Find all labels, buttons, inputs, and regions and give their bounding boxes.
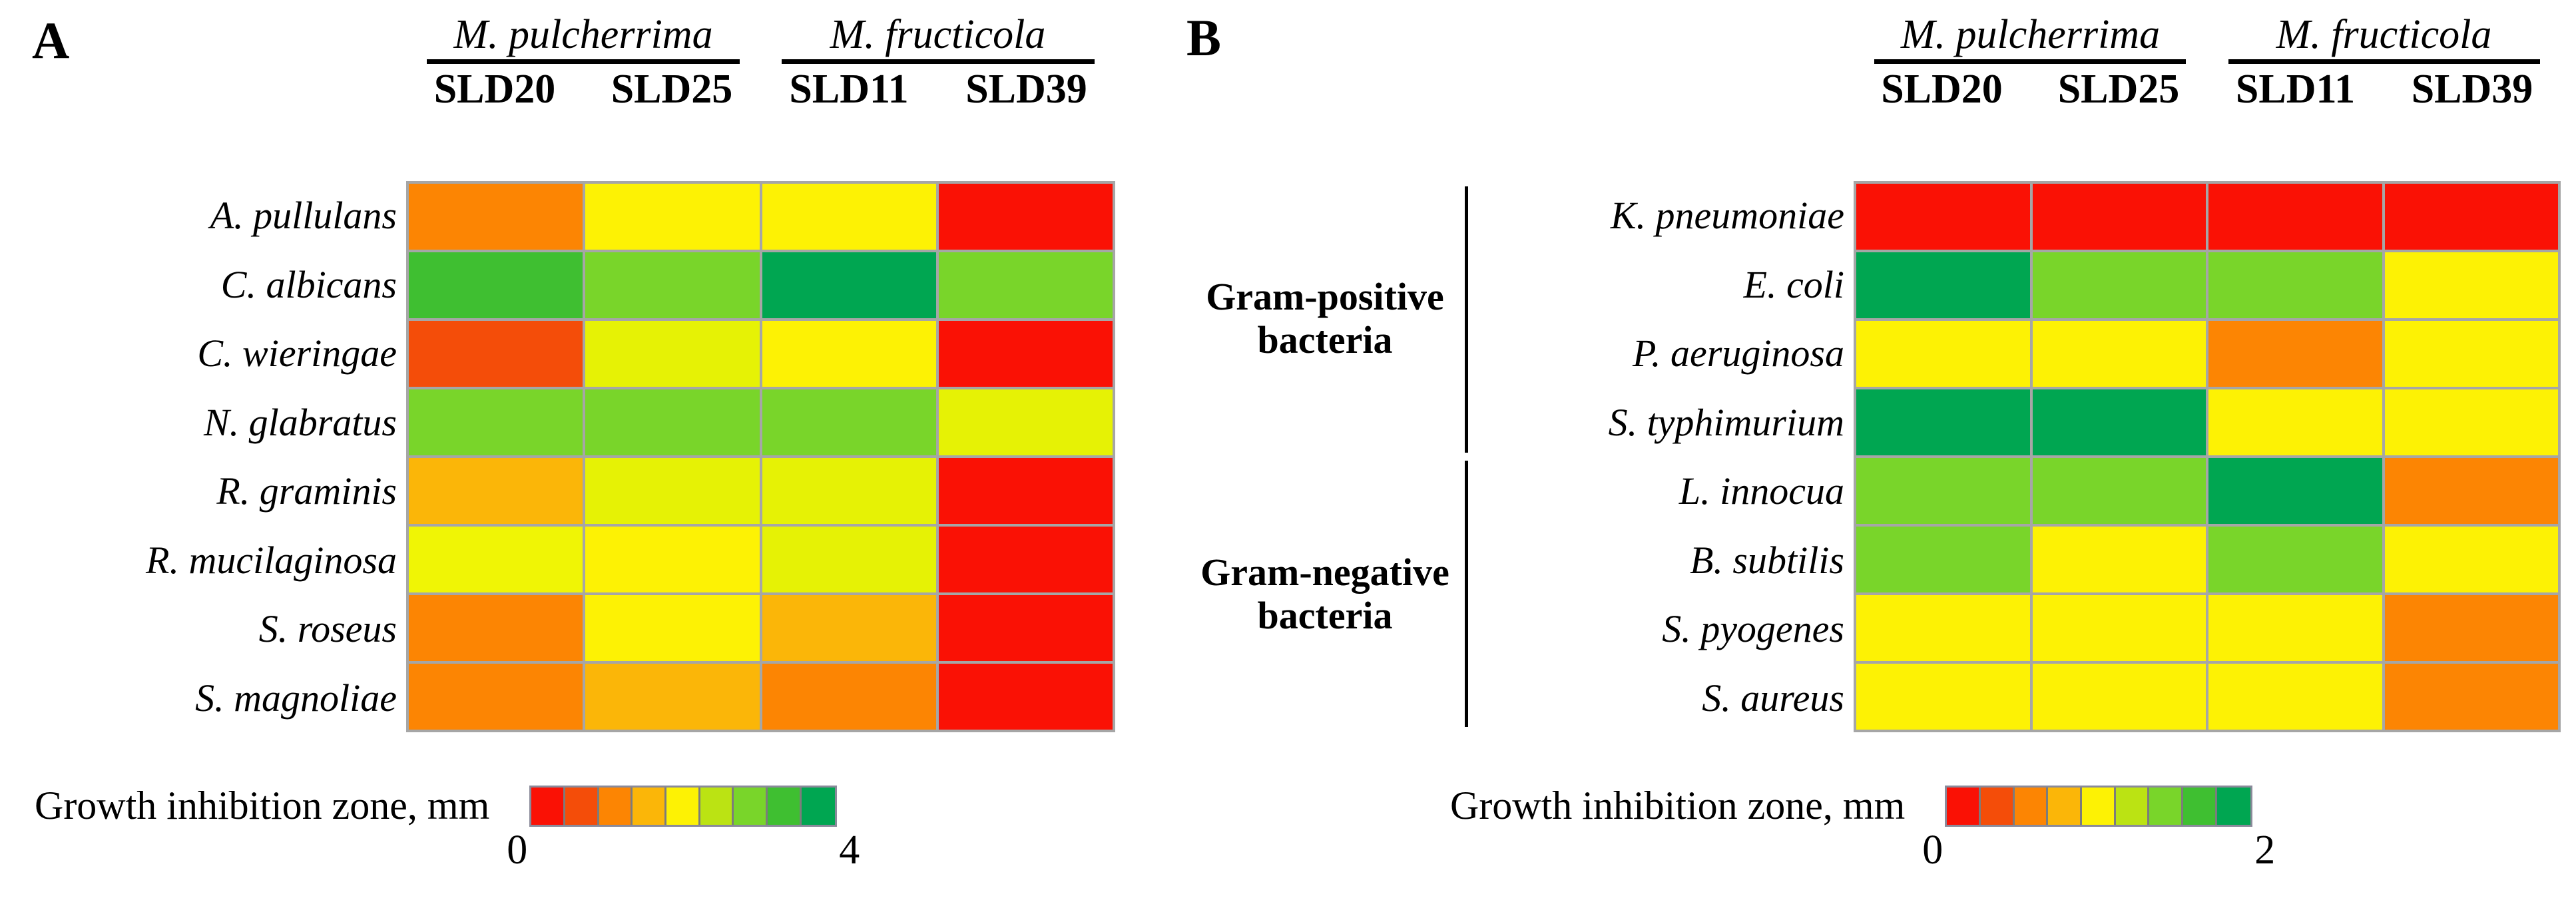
panel-a-legend-max: 4 [839, 829, 860, 871]
panel-b-strain-row: SLD20 SLD25 SLD11 SLD39 [1854, 68, 2561, 111]
panel-b-group-divider-top [1465, 186, 1468, 453]
heatmap-row-label: S. typhimurium [1471, 388, 1854, 457]
panel-b-legend-label: Growth inhibition zone, mm [1450, 786, 1905, 825]
heatmap-cell [585, 595, 759, 661]
heatmap-cell [2385, 527, 2559, 592]
panel-b-genus-underline-1 [2228, 59, 2540, 64]
colorbar-swatch [734, 788, 768, 825]
bacteria-group-label: Gram-positivebacteria [1192, 181, 1458, 457]
colorbar-swatch [1947, 788, 1981, 825]
heatmap-cell [2033, 527, 2206, 592]
heatmap-cell [585, 458, 759, 524]
panel-a-genus-group-1: M. fructicola [760, 13, 1115, 64]
heatmap-cell [762, 184, 936, 250]
heatmap-cell [585, 252, 759, 318]
panel-a: A M. pulcherrima M. fructicola SLD20 SLD… [0, 0, 1172, 914]
heatmap-cell [2208, 458, 2382, 524]
panel-a-genus-label: M. pulcherrima [406, 13, 760, 57]
heatmap-cell [1856, 527, 2030, 592]
heatmap-cell [409, 664, 583, 730]
heatmap-row-label: C. albicans [13, 250, 406, 320]
heatmap-cell [2033, 595, 2206, 661]
heatmap-cell [409, 389, 583, 455]
heatmap-row-label: A. pullulans [13, 181, 406, 250]
heatmap-cell [2208, 527, 2382, 592]
heatmap-cell [762, 252, 936, 318]
heatmap-cell [762, 458, 936, 524]
panel-b-colorbar [1945, 786, 2252, 827]
heatmap-cell [1856, 595, 2030, 661]
colorbar-swatch [2015, 788, 2049, 825]
panel-b-genus-label: M. pulcherrima [1854, 13, 2207, 57]
heatmap-row-label: S. roseus [13, 594, 406, 664]
heatmap-row-label: N. glabratus [13, 388, 406, 457]
panel-b-genus-group-0: M. pulcherrima [1854, 13, 2207, 64]
panel-a-strain-sld11: SLD11 [760, 68, 937, 111]
heatmap-cell [2033, 389, 2206, 455]
bacteria-group-label-line: Gram-negative [1200, 551, 1449, 594]
heatmap-cell [409, 252, 583, 318]
heatmap-cell [409, 184, 583, 250]
heatmap-cell [585, 664, 759, 730]
heatmap-cell [585, 184, 759, 250]
heatmap-cell [939, 389, 1113, 455]
panel-a-genus-label: M. fructicola [760, 13, 1115, 57]
heatmap-row-label: S. aureus [1471, 664, 1854, 733]
heatmap-cell [2385, 184, 2559, 250]
panel-b-letter: B [1186, 12, 1221, 64]
panel-b-legend-max: 2 [2254, 829, 2275, 871]
heatmap-row-label: C. wieringae [13, 319, 406, 388]
heatmap-row-label: R. mucilaginosa [13, 526, 406, 595]
heatmap-cell [939, 527, 1113, 592]
panel-b-column-headers: M. pulcherrima M. fructicola SLD20 SLD25… [1854, 13, 2561, 111]
panel-a-strain-sld39: SLD39 [937, 68, 1115, 111]
panel-b-strain-sld20: SLD20 [1854, 68, 2030, 111]
panel-b-legend: Growth inhibition zone, mm 0 2 [1450, 786, 2252, 827]
heatmap-cell [939, 184, 1113, 250]
heatmap-cell [2385, 664, 2559, 730]
panel-a-strain-row: SLD20 SLD25 SLD11 SLD39 [406, 68, 1115, 111]
heatmap-cell [2208, 389, 2382, 455]
heatmap-cell [2208, 664, 2382, 730]
heatmap-cell [762, 389, 936, 455]
panel-a-heatmap-grid [406, 181, 1115, 732]
heatmap-row-label: B. subtilis [1471, 526, 1854, 595]
heatmap-cell [2385, 595, 2559, 661]
panel-a-column-headers: M. pulcherrima M. fructicola SLD20 SLD25… [406, 13, 1115, 111]
heatmap-cell [409, 321, 583, 387]
panel-b-group-divider-bottom [1465, 461, 1468, 727]
heatmap-cell [1856, 252, 2030, 318]
colorbar-swatch [2149, 788, 2183, 825]
panel-b-group-labels: Gram-positivebacteriaGram-negativebacter… [1192, 181, 1458, 732]
panel-b-genus-group-1: M. fructicola [2207, 13, 2561, 64]
panel-b-strain-sld11: SLD11 [2207, 68, 2384, 111]
heatmap-cell [2033, 321, 2206, 387]
panel-b-heatmap-grid [1854, 181, 2561, 732]
panel-b-strain-sld25: SLD25 [2030, 68, 2207, 111]
panel-a-legend-min: 0 [507, 829, 527, 871]
colorbar-swatch [633, 788, 666, 825]
colorbar-swatch [2048, 788, 2082, 825]
panel-b-legend-min: 0 [1922, 829, 1943, 871]
heatmap-cell [939, 664, 1113, 730]
heatmap-cell [585, 527, 759, 592]
heatmap-cell [409, 595, 583, 661]
panel-a-colorbar-wrap: 0 4 [529, 786, 837, 827]
panel-b: B M. pulcherrima M. fructicola SLD20 SLD… [1172, 0, 2576, 914]
heatmap-cell [585, 321, 759, 387]
colorbar-swatch [768, 788, 802, 825]
heatmap-cell [939, 595, 1113, 661]
heatmap-cell [409, 458, 583, 524]
heatmap-cell [762, 595, 936, 661]
heatmap-cell [2208, 595, 2382, 661]
heatmap-row-label: R. graminis [13, 457, 406, 526]
bacteria-group-label-line: bacteria [1258, 319, 1393, 362]
heatmap-cell [1856, 458, 2030, 524]
panel-a-row-labels: A. pullulansC. albicansC. wieringaeN. gl… [13, 181, 406, 732]
heatmap-cell [1856, 184, 2030, 250]
figure-root: A M. pulcherrima M. fructicola SLD20 SLD… [0, 0, 2576, 914]
panel-a-letter: A [32, 15, 69, 67]
heatmap-cell [2033, 184, 2206, 250]
heatmap-cell [762, 527, 936, 592]
colorbar-swatch [700, 788, 734, 825]
panel-a-genus-underline-1 [782, 59, 1095, 64]
heatmap-cell [762, 321, 936, 387]
heatmap-cell [2033, 664, 2206, 730]
heatmap-cell [585, 389, 759, 455]
colorbar-swatch [2217, 788, 2251, 825]
heatmap-cell [1856, 664, 2030, 730]
heatmap-cell [939, 458, 1113, 524]
heatmap-cell [939, 252, 1113, 318]
colorbar-swatch [531, 788, 565, 825]
colorbar-swatch [2183, 788, 2217, 825]
heatmap-cell [939, 321, 1113, 387]
heatmap-cell [2208, 184, 2382, 250]
colorbar-swatch [1981, 788, 2015, 825]
panel-a-genus-row: M. pulcherrima M. fructicola [406, 13, 1115, 64]
heatmap-cell [2033, 252, 2206, 318]
bacteria-group-label-line: bacteria [1258, 594, 1393, 638]
heatmap-cell [2385, 389, 2559, 455]
colorbar-swatch [802, 788, 836, 825]
panel-a-strain-sld25: SLD25 [583, 68, 760, 111]
colorbar-swatch [599, 788, 633, 825]
colorbar-swatch [2082, 788, 2116, 825]
panel-b-genus-label: M. fructicola [2207, 13, 2561, 57]
heatmap-cell [2208, 252, 2382, 318]
panel-b-strain-sld39: SLD39 [2384, 68, 2561, 111]
heatmap-cell [1856, 321, 2030, 387]
heatmap-cell [409, 527, 583, 592]
bacteria-group-label: Gram-negativebacteria [1192, 457, 1458, 732]
panel-a-legend-label: Growth inhibition zone, mm [35, 786, 489, 825]
heatmap-row-label: S. pyogenes [1471, 594, 1854, 664]
colorbar-swatch [666, 788, 700, 825]
panel-b-genus-row: M. pulcherrima M. fructicola [1854, 13, 2561, 64]
panel-a-genus-underline-0 [427, 59, 740, 64]
heatmap-cell [2385, 458, 2559, 524]
panel-a-colorbar [529, 786, 837, 827]
panel-a-legend: Growth inhibition zone, mm 0 4 [35, 786, 837, 827]
heatmap-cell [2385, 252, 2559, 318]
bacteria-group-label-line: Gram-positive [1206, 276, 1444, 319]
panel-a-strain-sld20: SLD20 [406, 68, 583, 111]
heatmap-row-label: P. aeruginosa [1471, 319, 1854, 388]
colorbar-swatch [2116, 788, 2150, 825]
heatmap-cell [762, 664, 936, 730]
panel-a-genus-group-0: M. pulcherrima [406, 13, 760, 64]
heatmap-row-label: L. innocua [1471, 457, 1854, 526]
heatmap-cell [2033, 458, 2206, 524]
heatmap-row-label: S. magnoliae [13, 664, 406, 733]
panel-b-colorbar-wrap: 0 2 [1945, 786, 2252, 827]
heatmap-cell [2385, 321, 2559, 387]
panel-b-row-labels: K. pneumoniaeE. coliP. aeruginosaS. typh… [1471, 181, 1854, 732]
heatmap-cell [1856, 389, 2030, 455]
heatmap-cell [2208, 321, 2382, 387]
heatmap-row-label: E. coli [1471, 250, 1854, 320]
panel-b-genus-underline-0 [1874, 59, 2186, 64]
colorbar-swatch [565, 788, 599, 825]
heatmap-row-label: K. pneumoniae [1471, 181, 1854, 250]
